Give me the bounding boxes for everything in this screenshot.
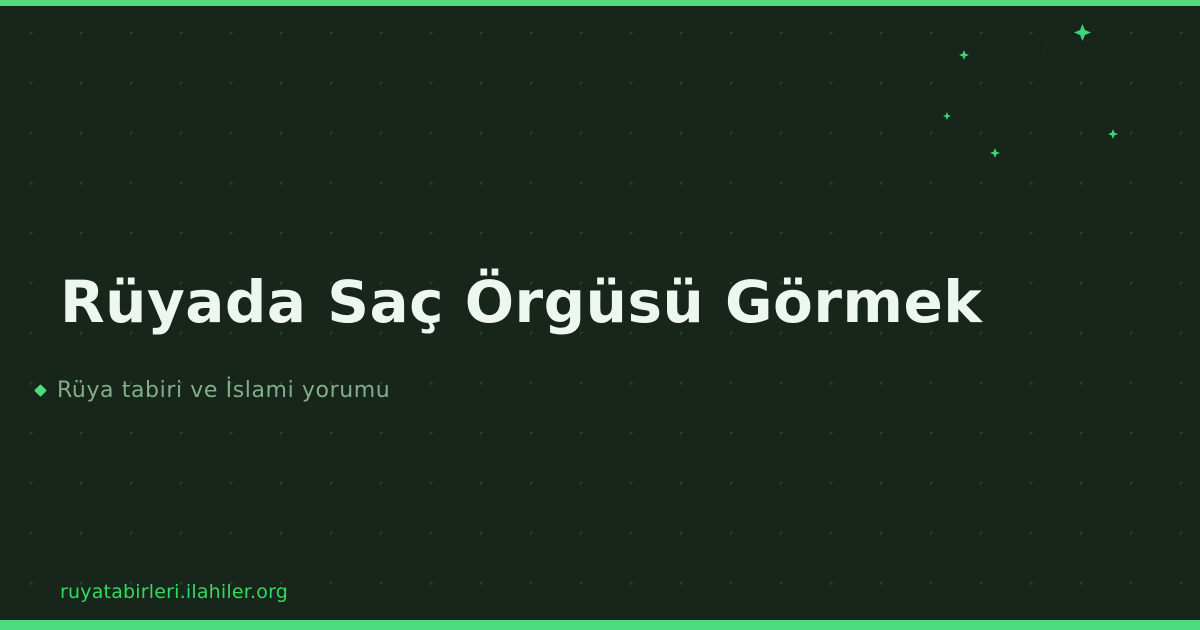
page-subtitle: Rüya tabiri ve İslami yorumu: [57, 378, 390, 403]
diamond-bullet-icon: [34, 384, 47, 397]
page-title: Rüyada Saç Örgüsü Görmek: [60, 272, 982, 333]
card-content: Rüyada Saç Örgüsü Görmek Rüya tabiri ve …: [0, 0, 1200, 630]
subtitle-row: Rüya tabiri ve İslami yorumu: [36, 378, 390, 403]
site-url: ruyatabirleri.ilahiler.org: [60, 581, 288, 603]
bottom-accent-bar: [0, 620, 1200, 630]
top-accent-bar: [0, 0, 1200, 6]
social-share-card: Rüyada Saç Örgüsü Görmek Rüya tabiri ve …: [0, 0, 1200, 630]
